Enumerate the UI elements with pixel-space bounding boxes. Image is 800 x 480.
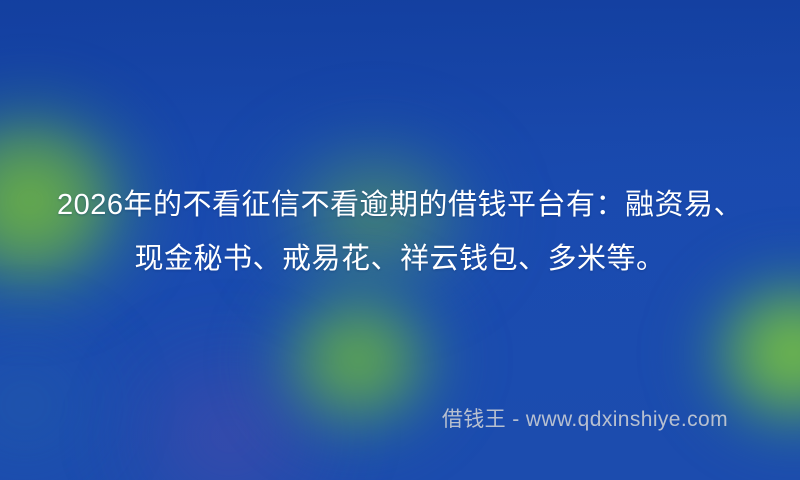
watermark-text: 借钱王 - www.qdxinshiye.com bbox=[0, 405, 728, 435]
headline-text: 2026年的不看征信不看逾期的借钱平台有：融资易、现金秘书、戒易花、祥云钱包、多… bbox=[50, 178, 750, 286]
promo-banner: 2026年的不看征信不看逾期的借钱平台有：融资易、现金秘书、戒易花、祥云钱包、多… bbox=[0, 0, 800, 480]
